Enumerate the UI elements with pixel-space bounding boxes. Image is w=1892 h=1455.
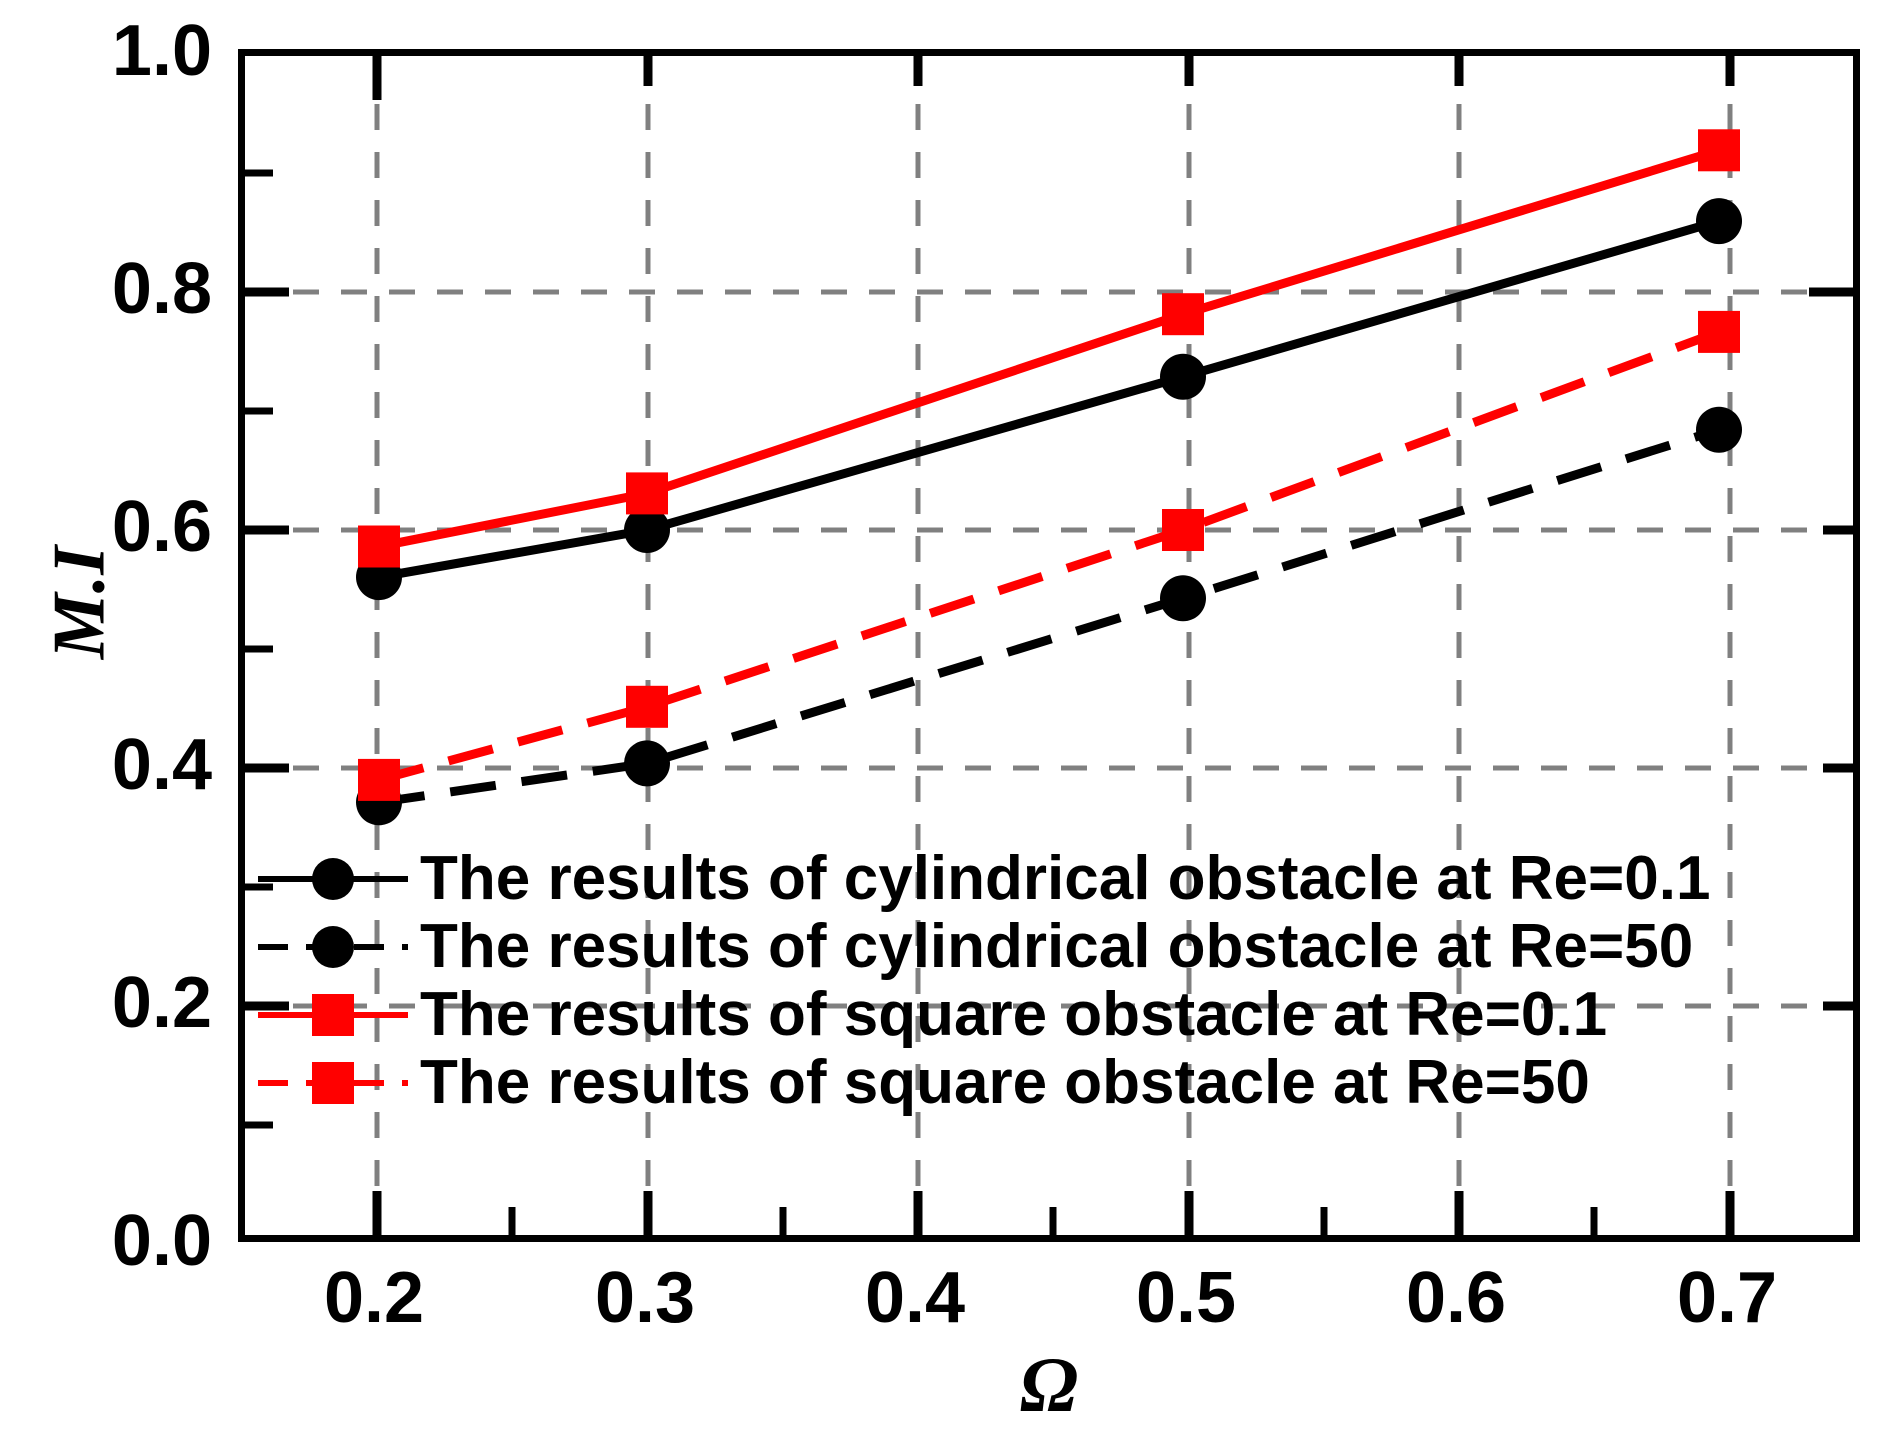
x-axis-title: Ω	[238, 1340, 1860, 1430]
legend-label: The results of square obstacle at Re=50	[420, 1052, 1590, 1114]
y-tick-label: 0.6	[112, 491, 212, 563]
x-tick-label: 0.3	[595, 1262, 695, 1334]
x-tick-label: 0.2	[324, 1262, 424, 1334]
x-tick-label: 0.7	[1677, 1262, 1777, 1334]
y-tick-label: 0.2	[112, 967, 212, 1039]
y-axis-title: M.I	[38, 493, 123, 713]
legend-label: The results of cylindrical obstacle at R…	[420, 916, 1693, 978]
data-point-circle[interactable]	[1696, 407, 1742, 453]
data-point-square[interactable]	[1698, 311, 1740, 353]
legend-sample-line	[258, 1049, 408, 1117]
data-point-square[interactable]	[1162, 293, 1204, 335]
x-tick-label: 0.5	[1136, 1262, 1236, 1334]
y-axis-tick-labels: 1.0 0.8 0.6 0.4 0.2 0.0	[0, 0, 212, 1455]
y-tick-label: 0.0	[112, 1205, 212, 1277]
data-point-square[interactable]	[1698, 129, 1740, 171]
series-line	[379, 150, 1719, 546]
x-tick-label: 0.4	[865, 1262, 965, 1334]
data-point-circle[interactable]	[1160, 354, 1206, 400]
data-point-square[interactable]	[626, 472, 668, 514]
data-point-square[interactable]	[626, 686, 668, 728]
legend-entry[interactable]: The results of cylindrical obstacle at R…	[258, 845, 1658, 913]
legend-label: The results of cylindrical obstacle at R…	[420, 848, 1710, 910]
legend-sample-line	[258, 981, 408, 1049]
y-tick-label: 1.0	[112, 15, 212, 87]
data-point-square[interactable]	[358, 759, 400, 801]
legend-entry[interactable]: The results of square obstacle at Re=0.1	[258, 981, 1658, 1049]
y-tick-label: 0.4	[112, 729, 212, 801]
legend-sample-line	[258, 913, 408, 981]
data-point-circle[interactable]	[624, 740, 670, 786]
series-line	[379, 332, 1719, 780]
data-point-circle[interactable]	[1160, 575, 1206, 621]
legend-entry[interactable]: The results of cylindrical obstacle at R…	[258, 913, 1658, 981]
data-point-square[interactable]	[1162, 509, 1204, 551]
x-tick-label: 0.6	[1406, 1262, 1506, 1334]
legend-entry[interactable]: The results of square obstacle at Re=50	[258, 1049, 1658, 1117]
chart-figure: 1.0 0.8 0.6 0.4 0.2 0.0 M.I	[0, 0, 1892, 1455]
legend: The results of cylindrical obstacle at R…	[258, 845, 1658, 1117]
legend-label: The results of square obstacle at Re=0.1	[420, 984, 1607, 1046]
legend-sample-line	[258, 845, 408, 913]
y-tick-label: 0.8	[112, 253, 212, 325]
series-line	[379, 430, 1719, 803]
data-point-square[interactable]	[358, 526, 400, 568]
series-line	[379, 221, 1719, 577]
data-point-circle[interactable]	[1696, 198, 1742, 244]
